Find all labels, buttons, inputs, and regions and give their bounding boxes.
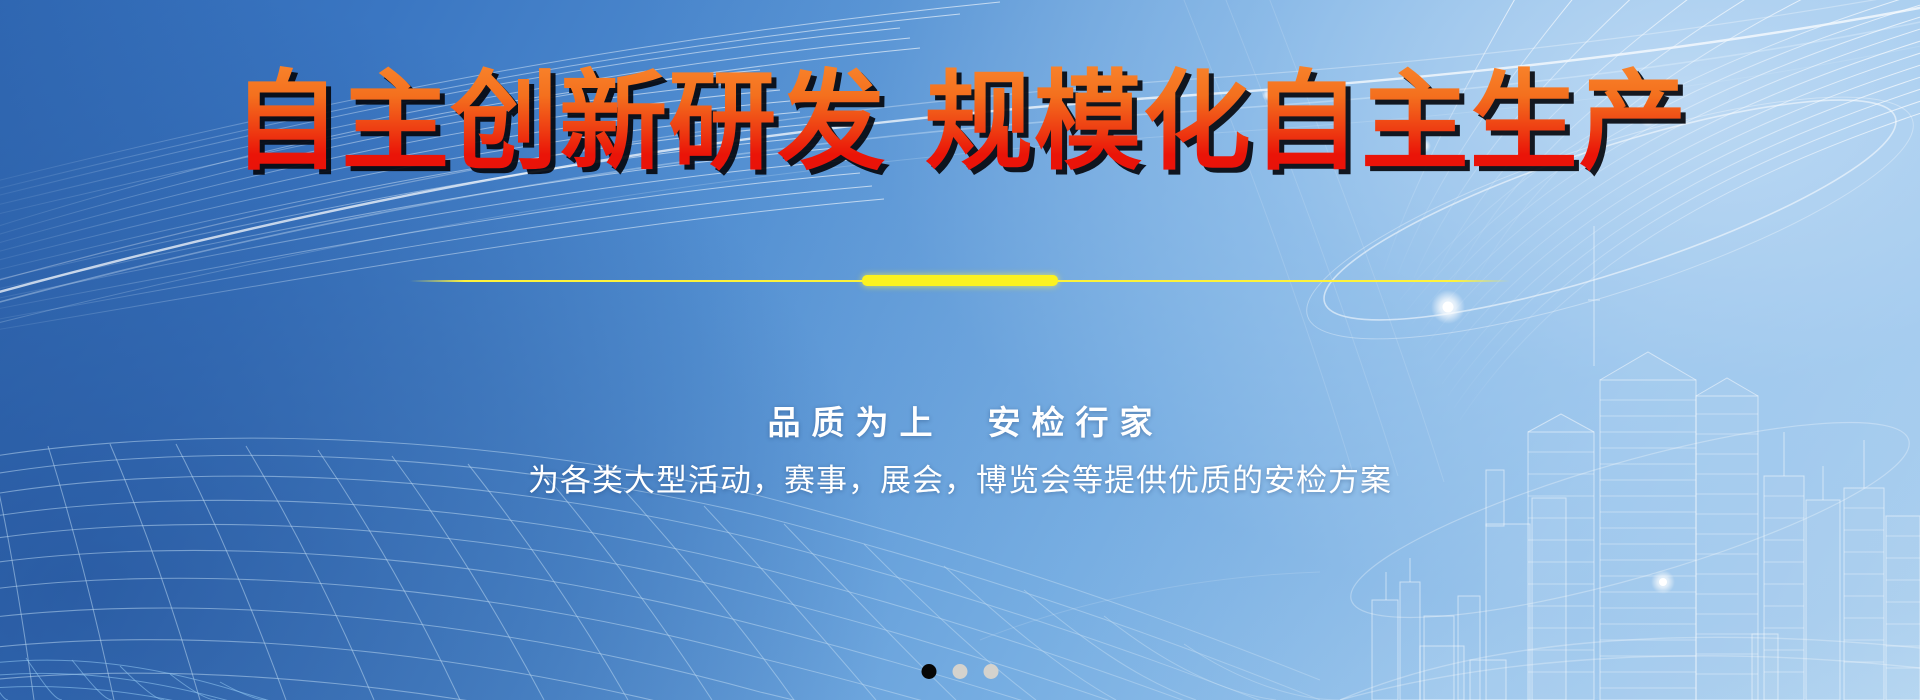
carousel-dot-3[interactable] <box>984 664 999 679</box>
headline-container: 自主创新研发 规模化自主生产 <box>0 66 1920 180</box>
divider-thick-segment <box>862 275 1058 286</box>
carousel-dots[interactable] <box>922 664 999 679</box>
banner-subtitle: 品质为上 安检行家 <box>0 396 1920 444</box>
banner-tagline: 为各类大型活动，赛事，展会，博览会等提供优质的安检方案 <box>0 455 1920 500</box>
carousel-dot-2[interactable] <box>953 664 968 679</box>
banner-headline: 自主创新研发 规模化自主生产 <box>232 66 1688 180</box>
hero-banner: 自主创新研发 规模化自主生产 品质为上 安检行家 为各类大型活动，赛事，展会，博… <box>0 0 1920 700</box>
carousel-dot-1[interactable] <box>922 664 937 679</box>
decorative-divider <box>410 272 1510 290</box>
